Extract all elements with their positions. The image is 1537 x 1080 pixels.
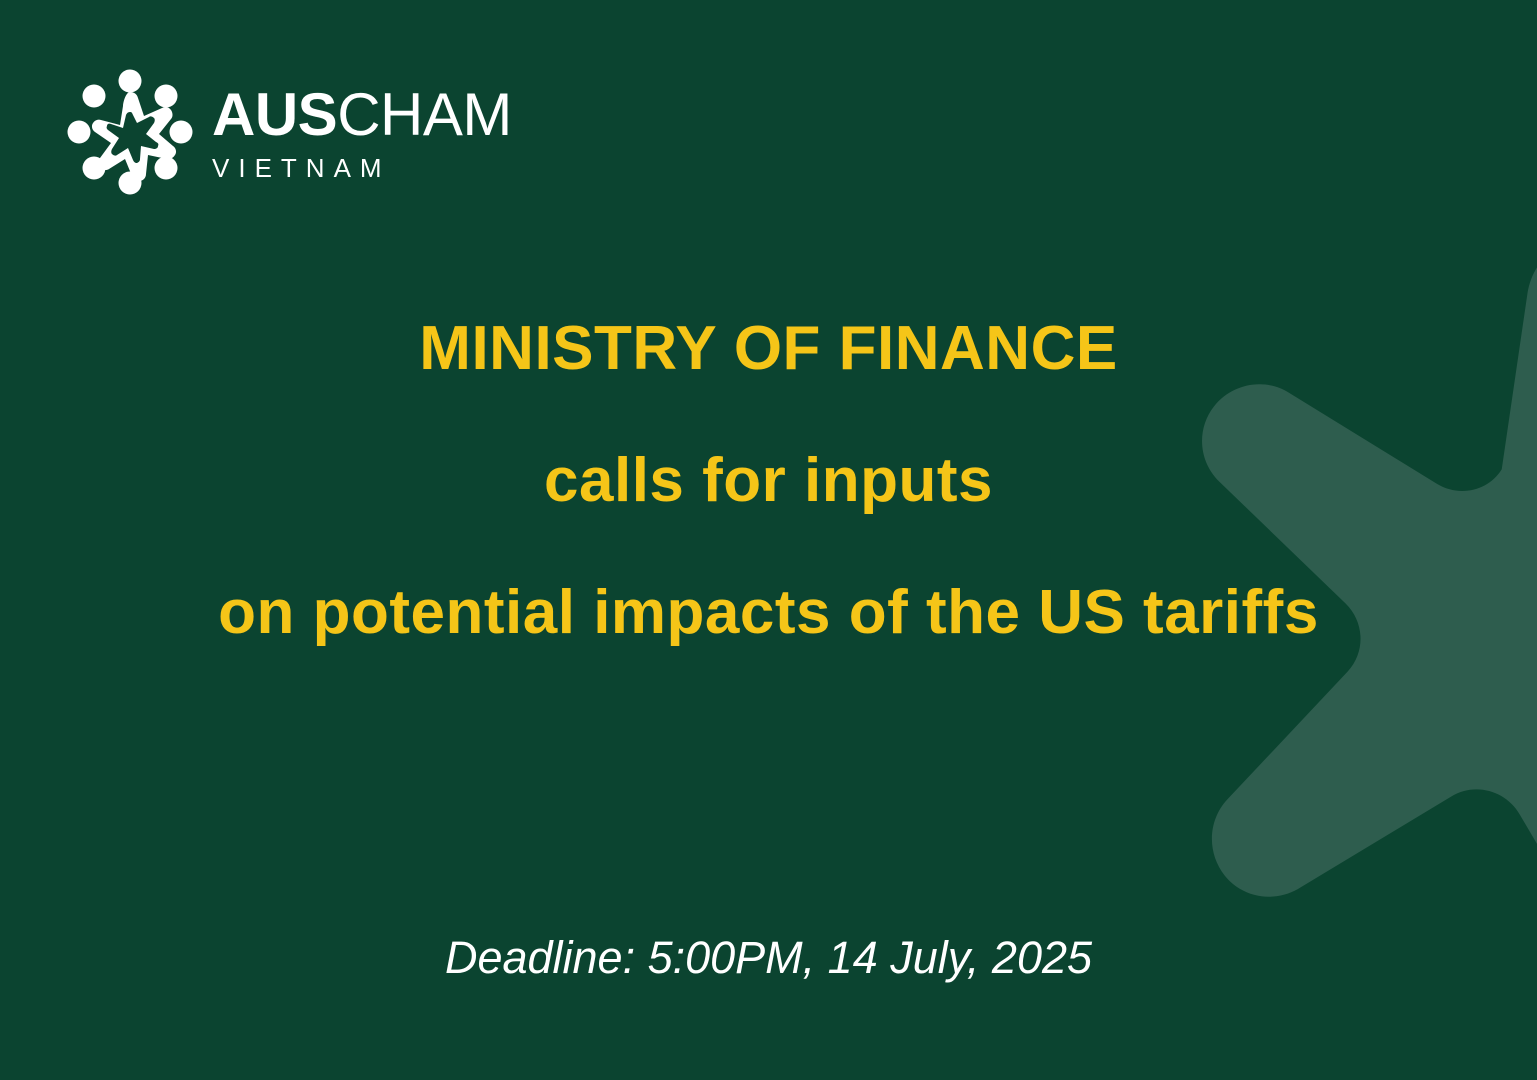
- headline-line-1: MINISTRY OF FINANCE: [0, 318, 1537, 380]
- logo-subtitle-vietnam: VIETNAM: [212, 153, 512, 184]
- headline-line-2: calls for inputs: [0, 450, 1537, 512]
- headline-block: MINISTRY OF FINANCE calls for inputs on …: [0, 318, 1537, 644]
- poster-canvas: AUSCHAM VIETNAM MINISTRY OF FINANCE call…: [0, 0, 1537, 1080]
- logo-wordmark-group: AUSCHAM VIETNAM: [212, 81, 512, 184]
- headline-line-3: on potential impacts of the US tariffs: [0, 582, 1537, 644]
- logo-wordmark: AUSCHAM: [212, 85, 512, 145]
- logo-wordmark-aus: AUS: [212, 81, 337, 148]
- auscham-logo: AUSCHAM VIETNAM: [66, 68, 512, 196]
- auscham-people-star-icon: [66, 68, 194, 196]
- deadline-text: Deadline: 5:00PM, 14 July, 2025: [0, 932, 1537, 984]
- logo-wordmark-cham: CHAM: [337, 81, 512, 148]
- logo-mark: [66, 68, 194, 196]
